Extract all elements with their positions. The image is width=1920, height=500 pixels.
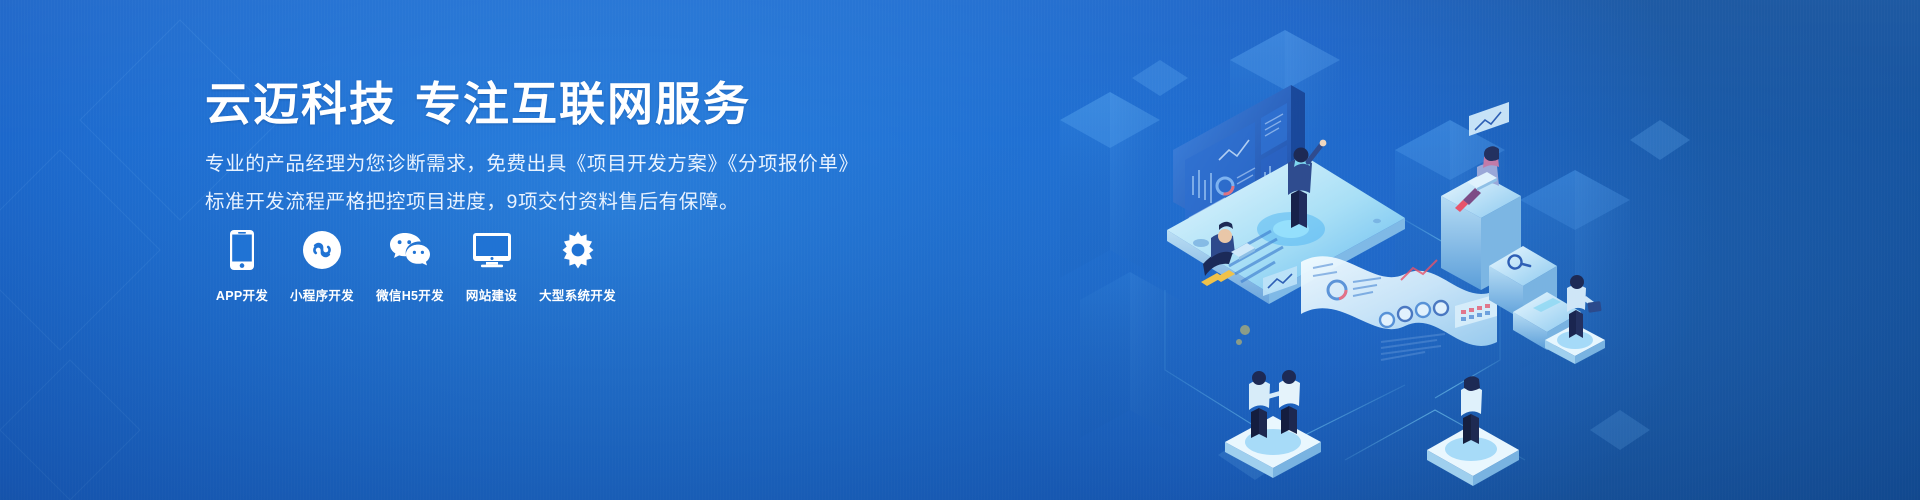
service-item-website[interactable]: 网站建设 [455, 228, 528, 304]
banner-content: 云迈科技专注互联网服务 专业的产品经理为您诊断需求，免费出具《项目开发方案》《分… [205, 0, 1105, 500]
wechat-icon [388, 228, 432, 272]
gear-icon [556, 228, 600, 272]
monitor-icon [470, 228, 514, 272]
service-item-miniprogram[interactable]: 小程序开发 [279, 228, 365, 304]
service-label: 网站建设 [466, 285, 517, 304]
subtitle-line-1: 专业的产品经理为您诊断需求，免费出具《项目开发方案》《分项报价单》 [205, 145, 905, 183]
service-label: 大型系统开发 [539, 285, 616, 304]
person-on-platform [1427, 376, 1519, 486]
page-title-brand: 云迈科技 [205, 78, 397, 130]
hero-banner: 云迈科技专注互联网服务 专业的产品经理为您诊断需求，免费出具《项目开发方案》《分… [0, 0, 1920, 500]
service-list: APP开发 小程序开发 [205, 228, 627, 304]
mobile-phone-icon [220, 228, 264, 272]
two-people-talking [1225, 370, 1321, 478]
service-label: 微信H5开发 [376, 285, 444, 304]
subtitle-line-2: 标准开发流程严格把控项目进度，9项交付资料售后有保障。 [205, 183, 905, 221]
page-title-tagline: 专注互联网服务 [415, 78, 751, 130]
isometric-tech-illustration [1105, 0, 1625, 500]
mini-program-icon [300, 228, 344, 272]
page-subtitle: 专业的产品经理为您诊断需求，免费出具《项目开发方案》《分项报价单》 标准开发流程… [205, 145, 905, 221]
service-label: APP开发 [216, 285, 268, 304]
service-item-wechat[interactable]: 微信H5开发 [365, 228, 455, 304]
service-item-app[interactable]: APP开发 [205, 228, 279, 304]
page-title: 云迈科技专注互联网服务 [205, 77, 751, 131]
service-item-large-system[interactable]: 大型系统开发 [528, 228, 627, 304]
service-label: 小程序开发 [290, 285, 354, 304]
